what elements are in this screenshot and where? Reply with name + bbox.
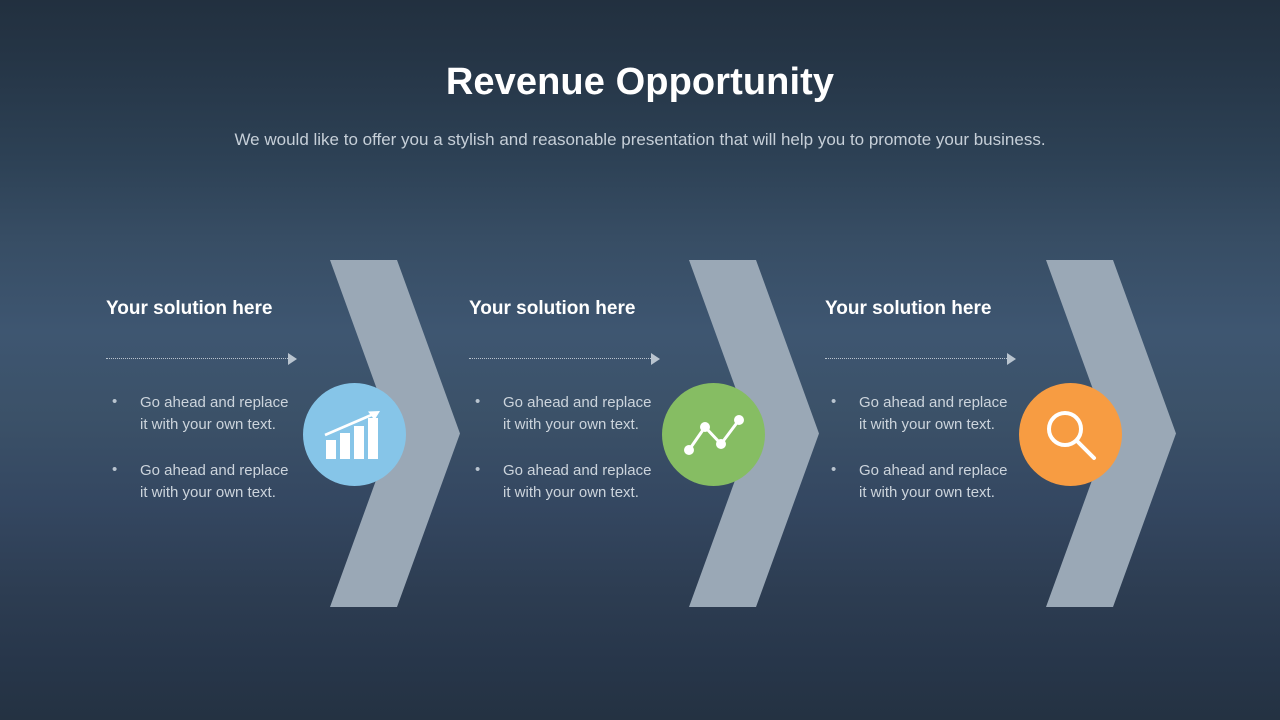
solution-heading-3: Your solution here — [825, 298, 1165, 321]
line-chart-icon — [683, 411, 745, 459]
list-item: Go ahead and replace it with your own te… — [106, 460, 291, 505]
slide-canvas: Revenue Opportunity We would like to off… — [0, 0, 1280, 720]
slide-subtitle: We would like to offer you a stylish and… — [0, 104, 1280, 152]
dotted-arrow-divider-2 — [469, 353, 664, 365]
icon-badge-2 — [662, 383, 765, 486]
page-title: Revenue Opportunity — [0, 0, 1280, 104]
list-item: Go ahead and replace it with your own te… — [469, 460, 654, 505]
list-item: Go ahead and replace it with your own te… — [825, 392, 1010, 437]
solution-heading-1: Your solution here — [106, 298, 446, 321]
solution-column-3: Your solution here Go ahead and replace … — [825, 298, 1165, 505]
solution-heading-2: Your solution here — [469, 298, 809, 321]
list-item: Go ahead and replace it with your own te… — [825, 460, 1010, 505]
bar-chart-growth-icon — [324, 407, 386, 463]
list-item: Go ahead and replace it with your own te… — [469, 392, 654, 437]
list-item: Go ahead and replace it with your own te… — [106, 392, 291, 437]
bullet-list-2: Go ahead and replace it with your own te… — [469, 392, 654, 505]
dotted-arrow-divider-3 — [825, 353, 1020, 365]
dotted-line-icon — [469, 358, 651, 359]
dotted-arrow-divider-1 — [106, 353, 301, 365]
bullet-list-1: Go ahead and replace it with your own te… — [106, 392, 291, 505]
icon-badge-1 — [303, 383, 406, 486]
dotted-line-icon — [825, 358, 1007, 359]
dotted-line-icon — [106, 358, 288, 359]
bullet-list-3: Go ahead and replace it with your own te… — [825, 392, 1010, 505]
solution-column-2: Your solution here Go ahead and replace … — [469, 298, 809, 505]
arrow-head-icon — [288, 353, 297, 365]
solution-column-1: Your solution here Go ahead and replace … — [106, 298, 446, 505]
arrow-head-icon — [1007, 353, 1016, 365]
icon-badge-3 — [1019, 383, 1122, 486]
slide-header: Revenue Opportunity We would like to off… — [0, 0, 1280, 152]
magnifier-search-icon — [1042, 406, 1100, 464]
arrow-head-icon — [651, 353, 660, 365]
